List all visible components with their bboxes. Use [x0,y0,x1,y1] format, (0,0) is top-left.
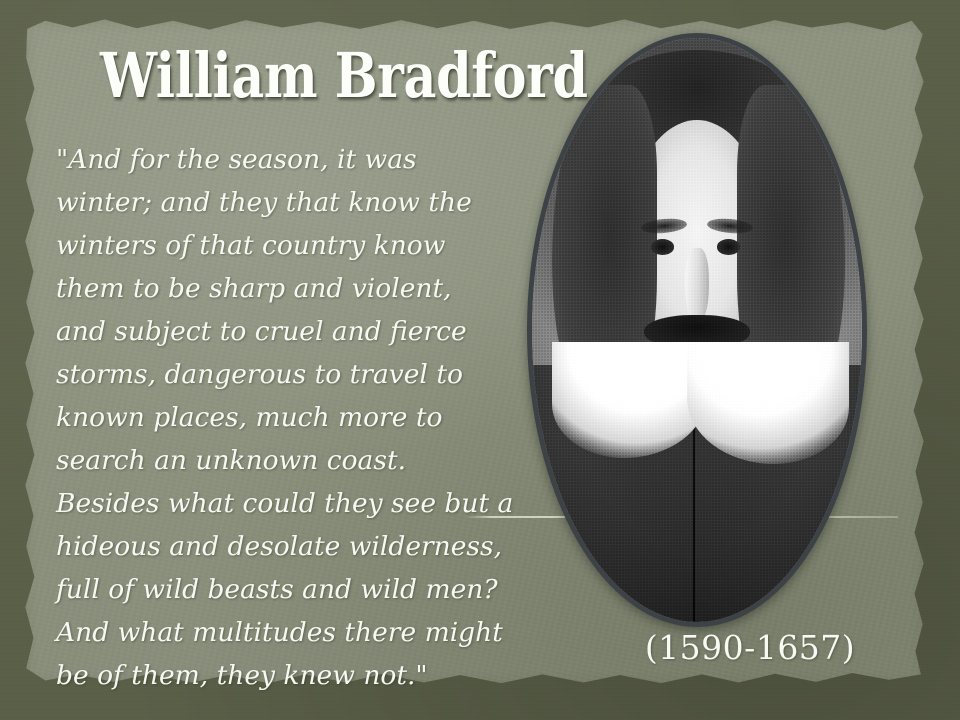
quote-line: hideous and desolate wilderness, [56,525,556,568]
quote-line: them to be sharp and violent, [56,267,556,310]
quote-line: And what multitudes there might [56,611,556,654]
quote-line: known places, much more to [56,396,556,439]
quote-line: and subject to cruel and fierce [56,310,556,353]
quote-line: storms, dangerous to travel to [56,353,556,396]
lifespan-caption: (1590-1657) [610,628,890,667]
quote-block: "And for the season, it was winter; and … [56,138,556,697]
page-title: William Bradford [100,44,485,107]
portrait-image [532,38,862,622]
quote-line: winter; and they that know the [56,181,556,224]
quote-line: winters of that country know [56,224,556,267]
quote-line: Besides what could they see but a [56,482,556,525]
quote-line: be of them, they knew not." [56,654,556,697]
quote-line: "And for the season, it was [56,138,556,181]
slide-canvas: William Bradford "And for the season, it… [0,0,960,720]
quote-line: search an unknown coast. [56,439,556,482]
portrait-vignette [532,38,862,622]
portrait-oval-frame [527,33,867,627]
quote-line: full of wild beasts and wild men? [56,568,556,611]
